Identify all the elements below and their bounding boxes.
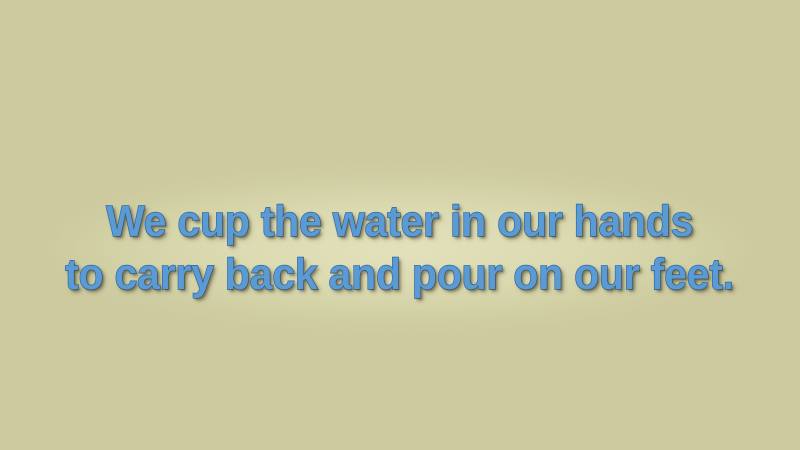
caption-text-block: We cup the water in our hands to carry b… bbox=[0, 0, 800, 450]
caption-line-1: We cup the water in our hands bbox=[106, 196, 693, 248]
caption-stage: We cup the water in our hands to carry b… bbox=[0, 0, 800, 450]
caption-line-2: to carry back and pour on our feet. bbox=[66, 249, 735, 301]
